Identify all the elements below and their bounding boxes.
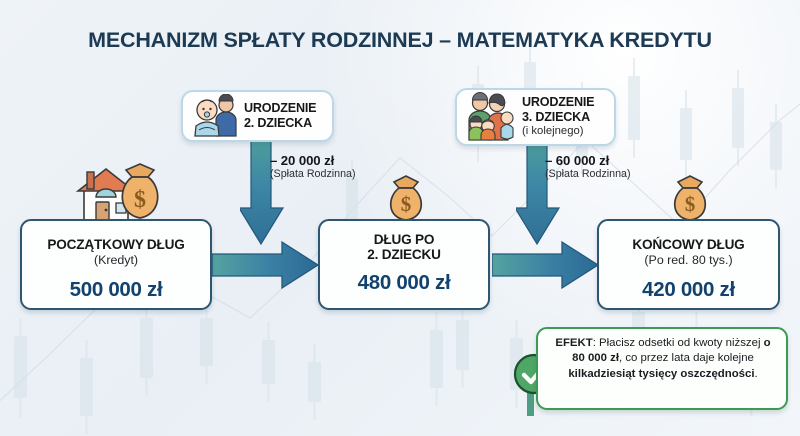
- deduction-label-1: – 20 000 zł (Spłata Rodzinna): [270, 153, 356, 180]
- event-bubble-second-child: URODZENIE 2. DZIECKA: [181, 90, 334, 142]
- svg-text:$: $: [685, 192, 696, 216]
- bubble-line3: (i kolejnego): [522, 125, 594, 139]
- card-amount: 420 000 zł: [599, 278, 778, 302]
- card-final-debt: KOŃCOWY DŁUG (Po red. 80 tys.) 420 000 z…: [597, 219, 780, 310]
- page-title: MECHANIZM SPŁATY RODZINNEJ – MATEMATYKA …: [0, 28, 800, 53]
- bubble-line2: 3. DZIECKA: [522, 110, 594, 125]
- svg-text:$: $: [401, 192, 412, 216]
- card-amount: 480 000 zł: [320, 271, 488, 295]
- infographic-canvas: MECHANIZM SPŁATY RODZINNEJ – MATEMATYKA …: [0, 0, 800, 436]
- effect-text-3: .: [754, 368, 757, 380]
- bubble-line2: 2. DZIECKA: [244, 116, 316, 131]
- card-title-line1: DŁUG PO: [320, 232, 488, 247]
- baby-with-parent-icon: [190, 94, 238, 138]
- deduction-amount: – 20 000 zł: [270, 153, 356, 168]
- deduction-note: (Spłata Rodzinna): [545, 168, 631, 180]
- bubble-line1: URODZENIE: [522, 95, 594, 110]
- effect-label: EFEKT: [555, 337, 592, 349]
- bubble-line1: URODZENIE: [244, 101, 316, 116]
- effect-callout: EFEKT: Płacisz odsetki od kwoty niższej …: [536, 327, 788, 410]
- family-icon: [464, 92, 516, 142]
- card-title: POCZĄTKOWY DŁUG: [22, 237, 210, 252]
- deduction-amount: – 60 000 zł: [545, 153, 631, 168]
- card-title: KOŃCOWY DŁUG: [599, 237, 778, 252]
- effect-text-1: : Płacisz odsetki od kwoty niższej: [593, 337, 764, 349]
- card-title-line2: 2. DZIECKU: [320, 247, 488, 262]
- event-bubble-third-child: URODZENIE 3. DZIECKA (i kolejnego): [455, 88, 616, 146]
- card-subtitle: (Kredyt): [22, 253, 210, 267]
- effect-bold-2: kilkadziesiąt tysięcy oszczędności: [568, 368, 754, 380]
- card-initial-debt: POCZĄTKOWY DŁUG (Kredyt) 500 000 zł: [20, 219, 212, 310]
- card-amount: 500 000 zł: [22, 278, 210, 302]
- card-subtitle: (Po red. 80 tys.): [599, 253, 778, 267]
- svg-text:$: $: [134, 187, 146, 213]
- effect-text-2: , co przez lata daje kolejne: [619, 352, 754, 364]
- deduction-note: (Spłata Rodzinna): [270, 168, 356, 180]
- deduction-label-2: – 60 000 zł (Spłata Rodzinna): [545, 153, 631, 180]
- card-debt-after-second-child: DŁUG PO 2. DZIECKU 480 000 zł: [318, 219, 490, 310]
